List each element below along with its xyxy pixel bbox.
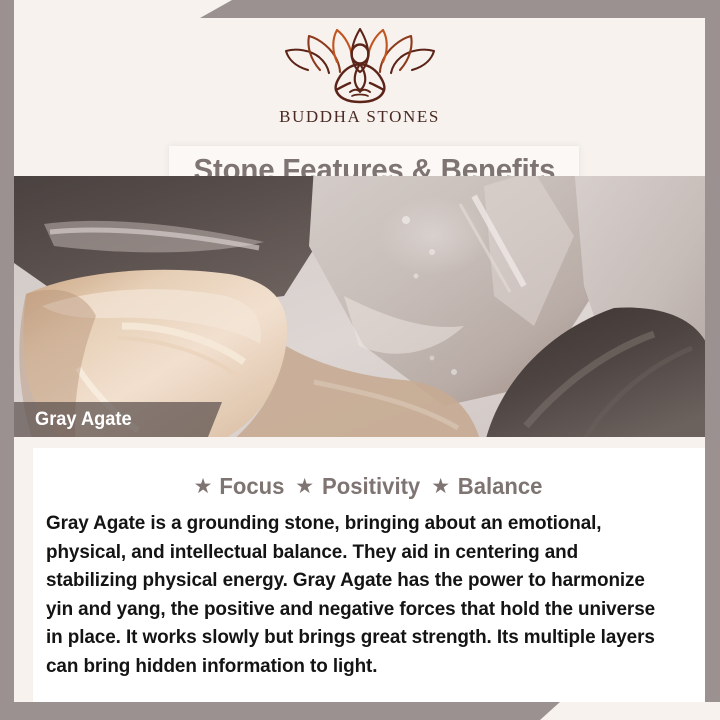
star-icon: ★ (194, 476, 213, 497)
description-text: Gray Agate is a grounding stone, bringin… (46, 509, 670, 680)
keyword-item-positivity: ★ Positivity (295, 473, 422, 500)
keyword-item-balance: ★ Balance (431, 473, 544, 500)
keyword-label: Focus (220, 473, 285, 500)
photo-caption: Gray Agate (14, 402, 222, 437)
photo-gap (14, 437, 705, 448)
lotus-meditation-icon (282, 26, 438, 104)
star-icon: ★ (431, 476, 450, 497)
page-surface: BUDDHA STONES Stone Features & Benefits (14, 18, 705, 702)
decorative-band-right (705, 18, 720, 720)
content-card: ★ Focus ★ Positivity ★ Balance Gray Agat… (33, 448, 705, 702)
decorative-band-top-right (200, 0, 720, 18)
keyword-label: Balance (458, 473, 543, 500)
photo-caption-text: Gray Agate (35, 409, 132, 431)
stone-photo: Gray Agate (14, 176, 705, 437)
keyword-label: Positivity (322, 473, 420, 500)
stone-info-card: BUDDHA STONES Stone Features & Benefits (0, 0, 720, 720)
decorative-band-bottom (0, 702, 560, 720)
keyword-list: ★ Focus ★ Positivity ★ Balance (33, 473, 705, 500)
brand-name: BUDDHA STONES (279, 107, 440, 127)
decorative-band-left (0, 0, 14, 720)
keyword-item-focus: ★ Focus (194, 473, 287, 500)
star-icon: ★ (295, 476, 314, 497)
decorative-band-bottom-right-fill (560, 702, 720, 720)
